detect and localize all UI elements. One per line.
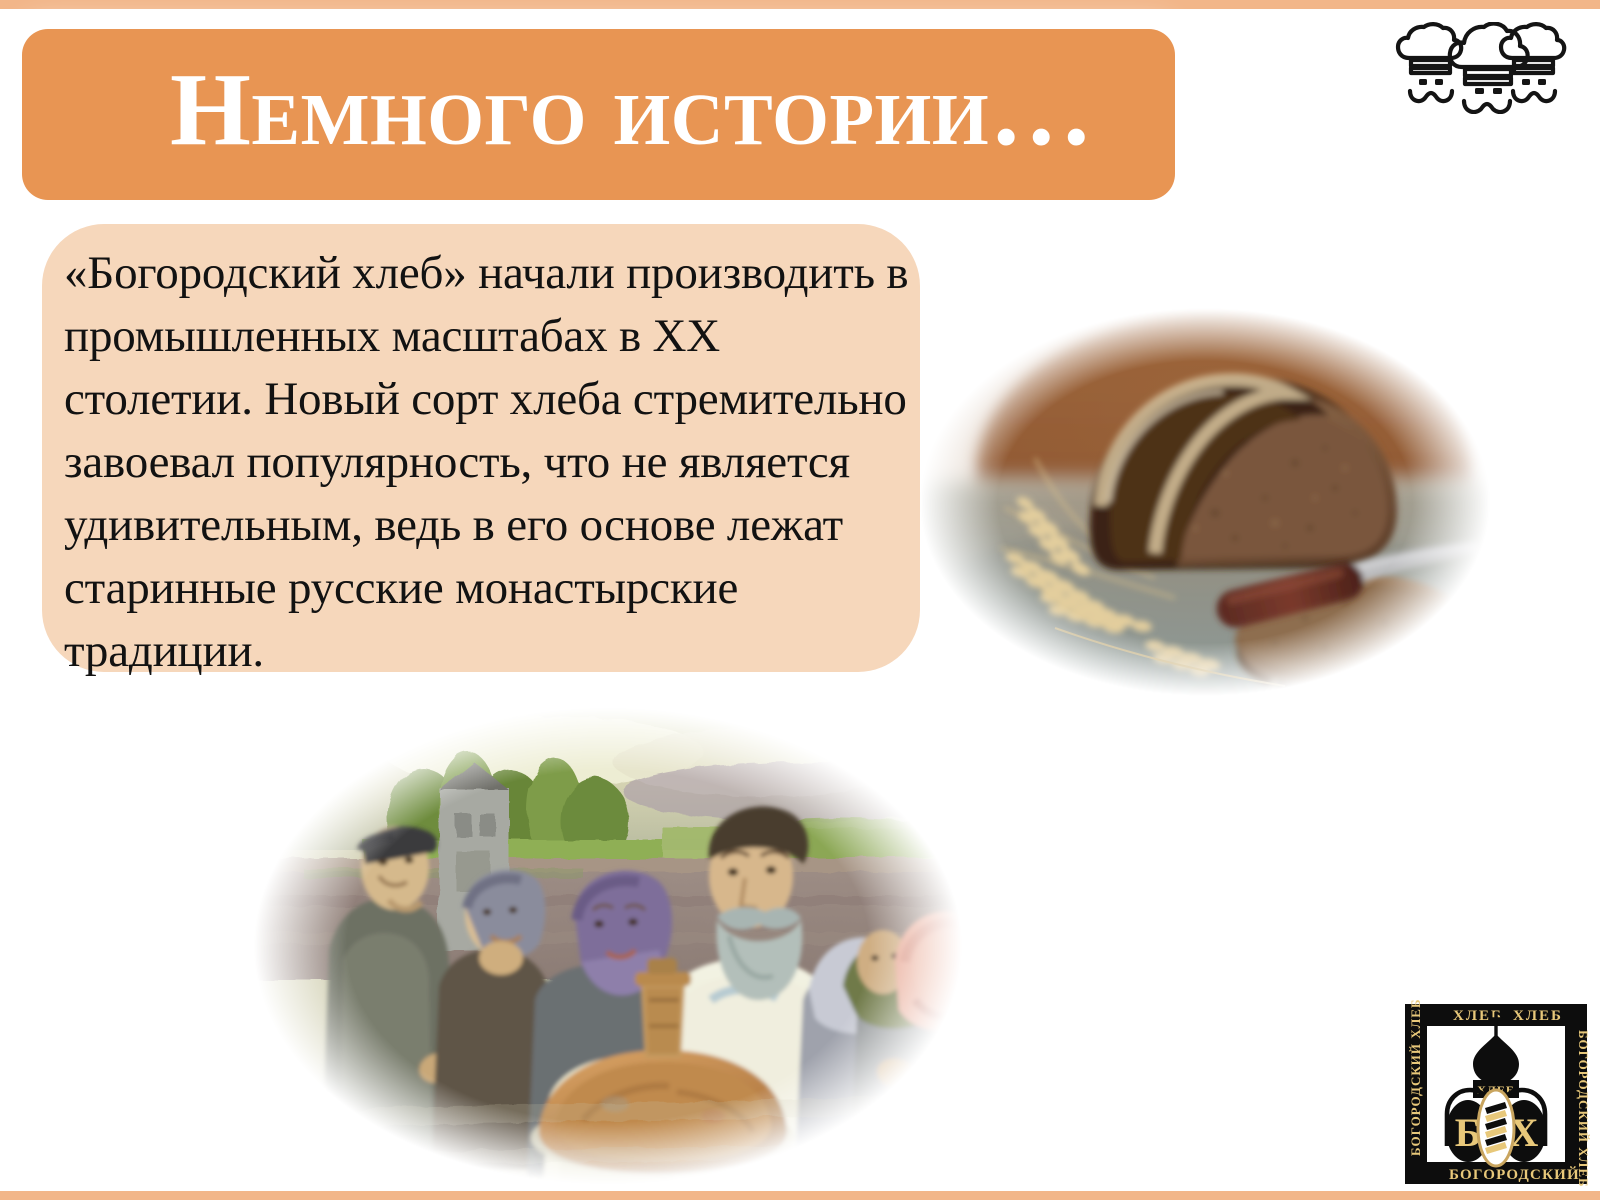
bogorodsky-khleb-logo: ХЛЕБ ХЛЕБ БОГОРОДСКИЙ БОГОРОДСКИЙ ХЛЕБ Б… — [1401, 996, 1591, 1188]
logo-bottom-word: БОГОРОДСКИЙ — [1449, 1166, 1580, 1183]
logo-right-word: БОГОРОДСКИЙ ХЛЕБ — [1576, 1030, 1591, 1188]
body-text-card: «Богородский хлеб» начали производить в … — [42, 224, 920, 672]
body-text: «Богородский хлеб» начали производить в … — [64, 242, 914, 683]
logo-left-word: БОГОРОДСКИЙ ХЛЕБ — [1408, 998, 1423, 1156]
slide-root: Немного истории… — [0, 0, 1600, 1200]
bottom-accent-strip — [0, 1191, 1600, 1200]
rye-bread-photo — [905, 298, 1505, 706]
three-chefs-icon — [1395, 22, 1567, 114]
logo-top-right-word: ХЛЕБ — [1513, 1008, 1563, 1024]
bread-and-salt-painting — [243, 700, 973, 1192]
page-title: Немного истории… — [170, 58, 1094, 162]
top-accent-strip — [0, 0, 1600, 9]
